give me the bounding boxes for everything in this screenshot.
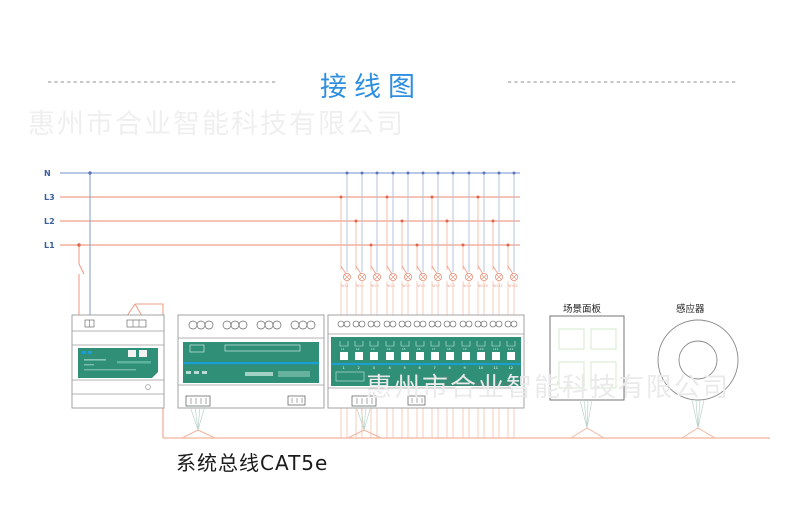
switch-icon bbox=[417, 266, 422, 274]
gw-led bbox=[194, 371, 199, 374]
relay-ch-button[interactable] bbox=[462, 352, 470, 360]
tap-dot bbox=[446, 220, 449, 223]
relay-ch-number: 12 bbox=[509, 366, 514, 370]
tap-dot bbox=[392, 172, 395, 175]
load-tiny-label: NO.2 bbox=[356, 284, 364, 288]
gateway-controller-module[interactable] bbox=[178, 315, 324, 408]
relay-pcb-stripe bbox=[331, 363, 521, 365]
switch-icon bbox=[371, 266, 376, 274]
ps-silk-band bbox=[117, 361, 151, 364]
gw-led bbox=[202, 371, 207, 374]
tap-dot bbox=[370, 244, 373, 247]
lamp-cross bbox=[436, 275, 441, 280]
switch-icon bbox=[478, 266, 483, 274]
rail-label-l2: L2 bbox=[44, 217, 55, 226]
relay-ch-label: L9 bbox=[463, 347, 467, 351]
gw-led bbox=[186, 371, 191, 374]
rail-label-l1: L1 bbox=[44, 241, 55, 250]
load-tiny-label: NO.10 bbox=[478, 284, 488, 288]
relay-ch-button[interactable] bbox=[431, 352, 439, 360]
wiring-diagram-page: 接线图 惠州市合业智能科技有限公司 N L3 L2 L1 bbox=[0, 0, 792, 527]
relay-ch-label: L7 bbox=[432, 347, 436, 351]
neutral-verticals bbox=[347, 173, 514, 272]
relay-ch-label: L11 bbox=[493, 347, 499, 351]
relay-ch-label: L6 bbox=[417, 347, 421, 351]
relay-ch-number: 5 bbox=[404, 366, 406, 370]
load-tiny-label: NO.3 bbox=[371, 284, 379, 288]
tap-dot bbox=[498, 172, 501, 175]
tap-dot bbox=[361, 172, 364, 175]
relay-ch-number: 1 bbox=[343, 366, 345, 370]
bus-drop-gateway bbox=[182, 406, 215, 438]
tap-dot bbox=[462, 244, 465, 247]
gw-silk-block bbox=[278, 371, 310, 377]
tap-dot bbox=[477, 196, 480, 199]
bus-drop-sensor bbox=[682, 400, 715, 438]
switch-icon bbox=[356, 266, 361, 274]
tap-dot bbox=[468, 172, 471, 175]
lamp-cross bbox=[497, 275, 502, 280]
load-tiny-label: NO.7 bbox=[432, 284, 440, 288]
tap-dot bbox=[401, 220, 404, 223]
lamp-cross bbox=[512, 275, 517, 280]
load-tiny-label: NO.11 bbox=[493, 284, 503, 288]
system-bus-group: 系统总线CAT5e bbox=[163, 400, 770, 475]
tap-dot bbox=[507, 244, 510, 247]
diagram-canvas: 接线图 惠州市合业智能科技有限公司 N L3 L2 L1 bbox=[0, 0, 792, 527]
header-group: 接线图 bbox=[48, 72, 738, 103]
tap-dot bbox=[386, 196, 389, 199]
relay-ch-button[interactable] bbox=[386, 352, 394, 360]
relay-ch-label: L3 bbox=[371, 347, 375, 351]
ps-led-b bbox=[88, 351, 92, 354]
relay-ch-button[interactable] bbox=[507, 352, 515, 360]
ps-terminal-right[interactable] bbox=[127, 320, 146, 327]
gw-bus-connector-aux[interactable] bbox=[288, 396, 305, 405]
tap-dot bbox=[513, 172, 516, 175]
watermark-bottom: 惠州市合业智能科技有限公司 bbox=[366, 373, 730, 403]
tap-dot bbox=[422, 172, 425, 175]
gw-bus-connector[interactable] bbox=[186, 396, 210, 406]
switch-icon bbox=[341, 266, 346, 274]
watermark-top: 惠州市合业智能科技有限公司 bbox=[28, 109, 405, 140]
load-tiny-label: NO.9 bbox=[463, 284, 471, 288]
lamp-cross bbox=[467, 275, 472, 280]
tap-dot bbox=[483, 172, 486, 175]
bus-drop-relay bbox=[348, 406, 381, 438]
switch-icon bbox=[387, 266, 392, 274]
tap-dot bbox=[492, 220, 495, 223]
load-tiny-label: NO.6 bbox=[417, 284, 425, 288]
relay-ch-label: L8 bbox=[447, 347, 451, 351]
relay-ch-button[interactable] bbox=[446, 352, 454, 360]
lamp-cross bbox=[345, 275, 350, 280]
relay-ch-button[interactable] bbox=[492, 352, 500, 360]
page-title: 接线图 bbox=[320, 72, 422, 103]
scene-panel-label: 场景面板 bbox=[563, 303, 602, 315]
ps-silk-line bbox=[84, 359, 106, 361]
relay-ch-number: 2 bbox=[358, 366, 360, 370]
power-rails-group: N L3 L2 L1 bbox=[44, 169, 520, 250]
ps-btn-b[interactable] bbox=[139, 350, 147, 357]
load-tiny-label: NO.1 bbox=[341, 284, 349, 288]
tap-dot bbox=[431, 196, 434, 199]
load-tiny-label: NO.12 bbox=[508, 284, 518, 288]
relay-ch-label: L12 bbox=[508, 347, 514, 351]
relay-ch-button[interactable] bbox=[416, 352, 424, 360]
relay-ch-button[interactable] bbox=[401, 352, 409, 360]
tap-dot bbox=[376, 172, 379, 175]
tap-dot bbox=[355, 220, 358, 223]
ps-led-a bbox=[82, 351, 86, 354]
lamp-cross bbox=[406, 275, 411, 280]
rail-junction-n-left bbox=[88, 171, 91, 174]
lamp-cross bbox=[375, 275, 380, 280]
relay-ch-number: 11 bbox=[494, 366, 499, 370]
switch-icon bbox=[463, 266, 468, 274]
tap-dot bbox=[452, 172, 455, 175]
switch-icon bbox=[447, 266, 452, 274]
load-tiny-label: NO.5 bbox=[402, 284, 410, 288]
lamp-cross bbox=[421, 275, 426, 280]
relay-ch-label: L10 bbox=[478, 347, 484, 351]
switch-icon bbox=[508, 266, 513, 274]
breaker-left-icon bbox=[79, 264, 84, 274]
gw-silk-label bbox=[245, 372, 273, 376]
relay-ch-button[interactable] bbox=[355, 352, 363, 360]
load-tiny-label: NO.4 bbox=[387, 284, 395, 288]
lamp-cross bbox=[391, 275, 396, 280]
lamp-cross bbox=[360, 275, 365, 280]
rail-label-n: N bbox=[44, 169, 51, 178]
rail-label-l3: L3 bbox=[44, 193, 55, 202]
rail-junction-l1-left bbox=[77, 243, 80, 246]
switch-icon bbox=[493, 266, 498, 274]
tap-dot bbox=[346, 172, 349, 175]
gw-pcb-stripe bbox=[183, 362, 319, 364]
tap-dot bbox=[437, 172, 440, 175]
switch-icon bbox=[402, 266, 407, 274]
relay-ch-number: 10 bbox=[479, 366, 484, 370]
sensor-label: 感应器 bbox=[676, 303, 705, 315]
relay-ch-button[interactable] bbox=[477, 352, 485, 360]
tap-dot bbox=[407, 172, 410, 175]
relay-ch-label: L2 bbox=[356, 347, 360, 351]
system-bus-label: 系统总线CAT5e bbox=[176, 451, 328, 475]
tap-dot bbox=[416, 244, 419, 247]
relay-ch-label: L1 bbox=[341, 347, 345, 351]
switch-icon bbox=[432, 266, 437, 274]
relay-ch-number: 7 bbox=[434, 366, 436, 370]
ps-btn-a[interactable] bbox=[128, 350, 136, 357]
power-supply-module[interactable] bbox=[72, 315, 164, 408]
relay-ch-button[interactable] bbox=[340, 352, 348, 360]
bus-drop-scene-panel bbox=[571, 400, 604, 438]
lamp-cross bbox=[482, 275, 487, 280]
relay-ch-number: 3 bbox=[373, 366, 375, 370]
ps-silk-line bbox=[84, 364, 94, 365]
relay-ch-button[interactable] bbox=[370, 352, 378, 360]
lamp-cross bbox=[451, 275, 456, 280]
load-tiny-label: NO.8 bbox=[447, 284, 455, 288]
tap-dot bbox=[340, 196, 343, 199]
relay-ch-label: L4 bbox=[387, 347, 391, 351]
ps-silk-line bbox=[84, 369, 136, 370]
relay-ch-label: L5 bbox=[402, 347, 406, 351]
